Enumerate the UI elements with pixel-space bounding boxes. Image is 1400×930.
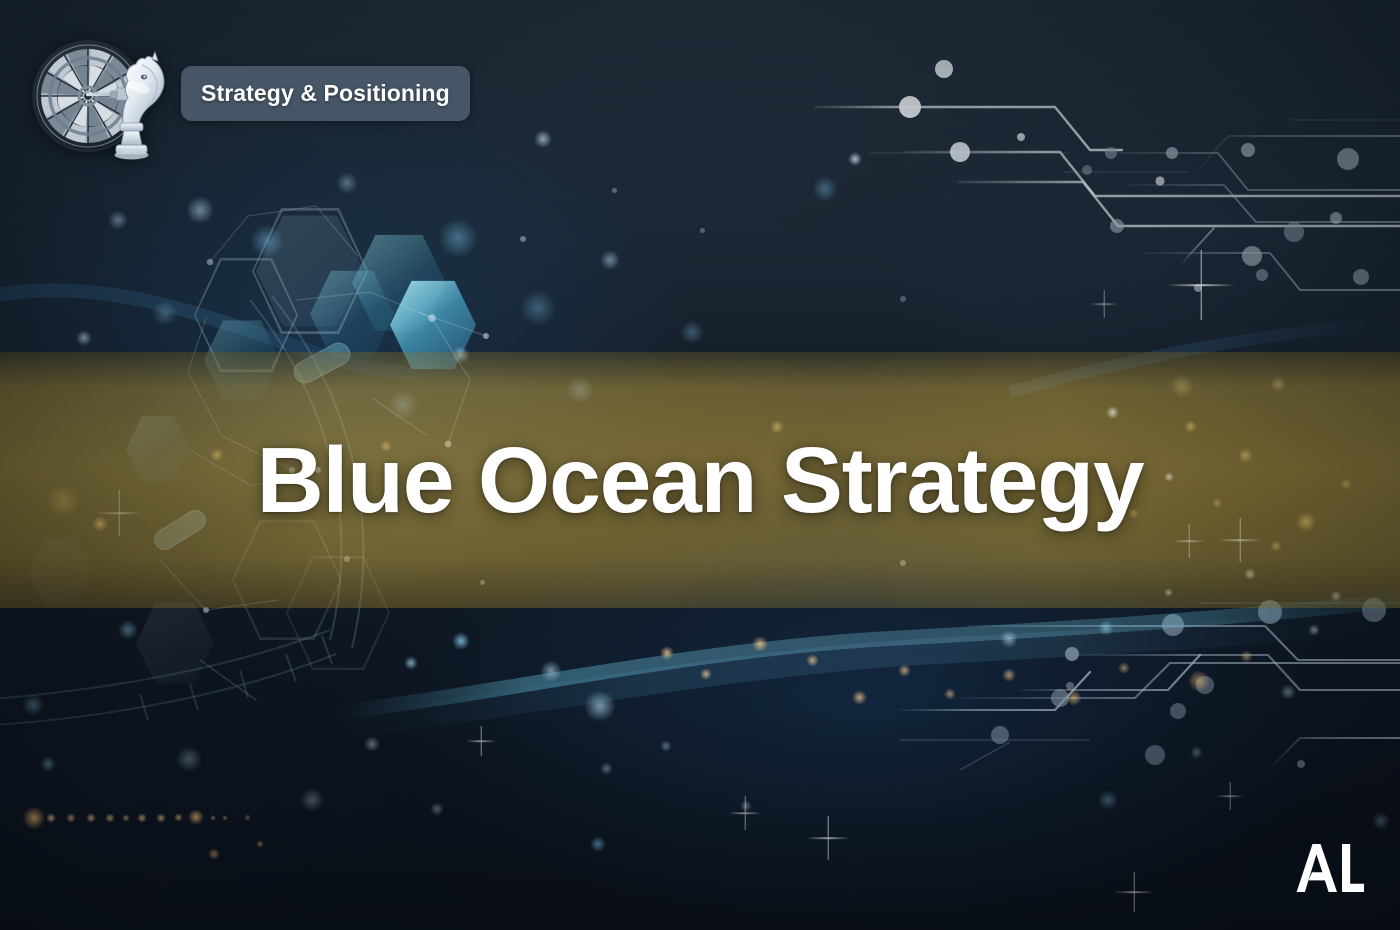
- lens-flare-star: [1216, 782, 1244, 810]
- lens-flare-star: [1166, 250, 1236, 320]
- hexagon-shape: [310, 268, 394, 360]
- page-title: Blue Ocean Strategy: [257, 434, 1144, 527]
- category-badge[interactable]: Strategy & Positioning: [181, 66, 470, 121]
- lens-flare-star: [1090, 290, 1118, 318]
- title-area: Blue Ocean Strategy: [0, 352, 1400, 608]
- dartboard-and-chess-knight-icon: [24, 24, 172, 172]
- hexagon-shape: [136, 600, 214, 686]
- hexagon-shape: [352, 232, 446, 334]
- lens-flare-star: [466, 726, 496, 756]
- lens-flare-star: [806, 816, 850, 860]
- hexagon-shape: [256, 212, 364, 330]
- lens-flare-star: [728, 796, 762, 830]
- hexagon-outline: [252, 208, 368, 334]
- title-slide: Strategy & Positioning Blue Ocean Strate…: [0, 0, 1400, 930]
- lens-flare-star: [1114, 872, 1154, 912]
- brand-logo-al: [1296, 842, 1364, 894]
- category-badge-label: Strategy & Positioning: [201, 80, 450, 107]
